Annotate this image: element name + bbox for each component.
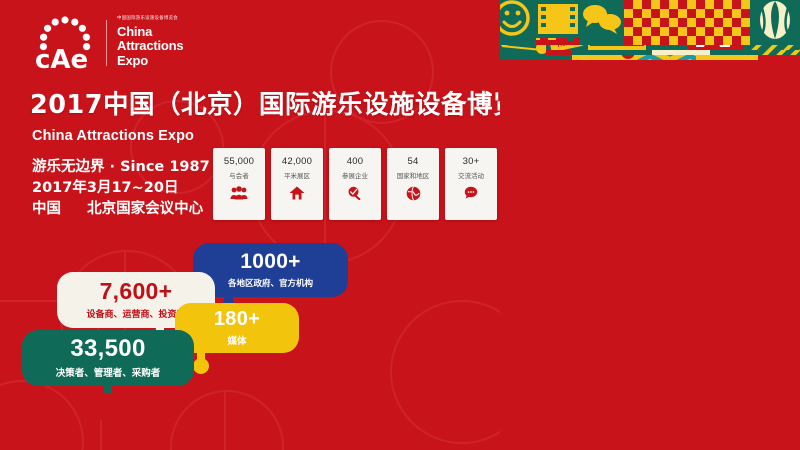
poster-root: cAe 中国国际游乐设施设备博览会 China Attractions Expo… [0,0,800,450]
stat-card-events: 30+ 交流活动 [445,148,497,220]
tile-checker-yellow-red [624,0,750,45]
bubble-label: 决策者、管理者、采购者 [56,365,161,379]
speech-bubble-icon [464,186,478,200]
event-location: 中国 北京国家会议中心 [32,197,203,218]
bubble-label: 媒体 [227,333,246,347]
tile-speech-bubbles [580,0,624,45]
stat-value: 54 [408,156,419,167]
tile-balloon-b [750,0,800,45]
location-venue: 北京国家会议中心 [87,201,203,217]
bubble-value: 1000+ [240,251,300,272]
location-country: 中国 [32,201,61,217]
stat-label: 交流活动 [458,170,484,180]
bubble-government: 1000+ 各地区政府、官方机构 [193,243,348,297]
ferris-wheel-icon: cAe [34,14,96,72]
stat-value: 400 [347,156,363,167]
bubble-tail-yellow-drop [193,358,209,374]
stat-label: 与会者 [229,170,249,180]
tagline: 游乐无边界 · Since 1987 [32,155,210,176]
home-tent-icon [289,186,305,200]
subtitle-english: China Attractions Expo [32,128,194,144]
stat-value: 42,000 [282,156,312,167]
stat-value: 55,000 [224,156,254,167]
bubble-buyers: 33,500 决策者、管理者、采购者 [22,330,194,386]
bubble-value: 33,500 [70,337,145,361]
bubble-label: 各地区政府、官方机构 [228,277,313,289]
people-group-icon [230,186,248,200]
icon-pattern-collage: TICKET [500,0,800,450]
stat-card-area: 42,000 平米展区 [271,148,323,220]
logo-en-line3: Expo [117,54,183,69]
event-dates: 2017年3月17~20日 [32,176,178,197]
logo-micro-chinese: 中国国际游乐设施设备博览会 [117,17,183,21]
logo-en-line1: China [117,25,183,40]
globe-icon [406,186,421,201]
stat-label: 参展企业 [342,170,368,180]
stat-card-exhibitors: 400 参展企业 [329,148,381,220]
page-title: 2017中国（北京）国际游乐设施设备博览会 [30,84,500,121]
stat-value: 30+ [463,156,480,167]
stat-label: 平米展区 [284,170,310,180]
stat-card-attendees: 55,000 与会者 [213,148,265,220]
stats-card-row: 55,000 与会者 42,000 平米展区 4 [213,148,497,220]
bubble-label: 设备商、运营商、投资商 [86,307,185,320]
stat-label: 国家和地区 [397,170,430,180]
stat-card-countries: 54 国家和地区 [387,148,439,220]
tile-smiley-b [500,0,536,45]
bubble-value: 7,600+ [100,280,173,303]
logo-en-line2: Attractions [117,39,183,54]
svg-text:cAe: cAe [35,45,88,72]
logo-divider [106,20,107,66]
magnifier-badge-icon [347,186,363,200]
cae-logo: cAe 中国国际游乐设施设备博览会 China Attractions Expo [34,14,183,72]
logo-text-block: 中国国际游乐设施设备博览会 China Attractions Expo [117,17,183,68]
tile-film-strip-b [536,0,580,38]
bubble-value: 180+ [214,309,260,329]
